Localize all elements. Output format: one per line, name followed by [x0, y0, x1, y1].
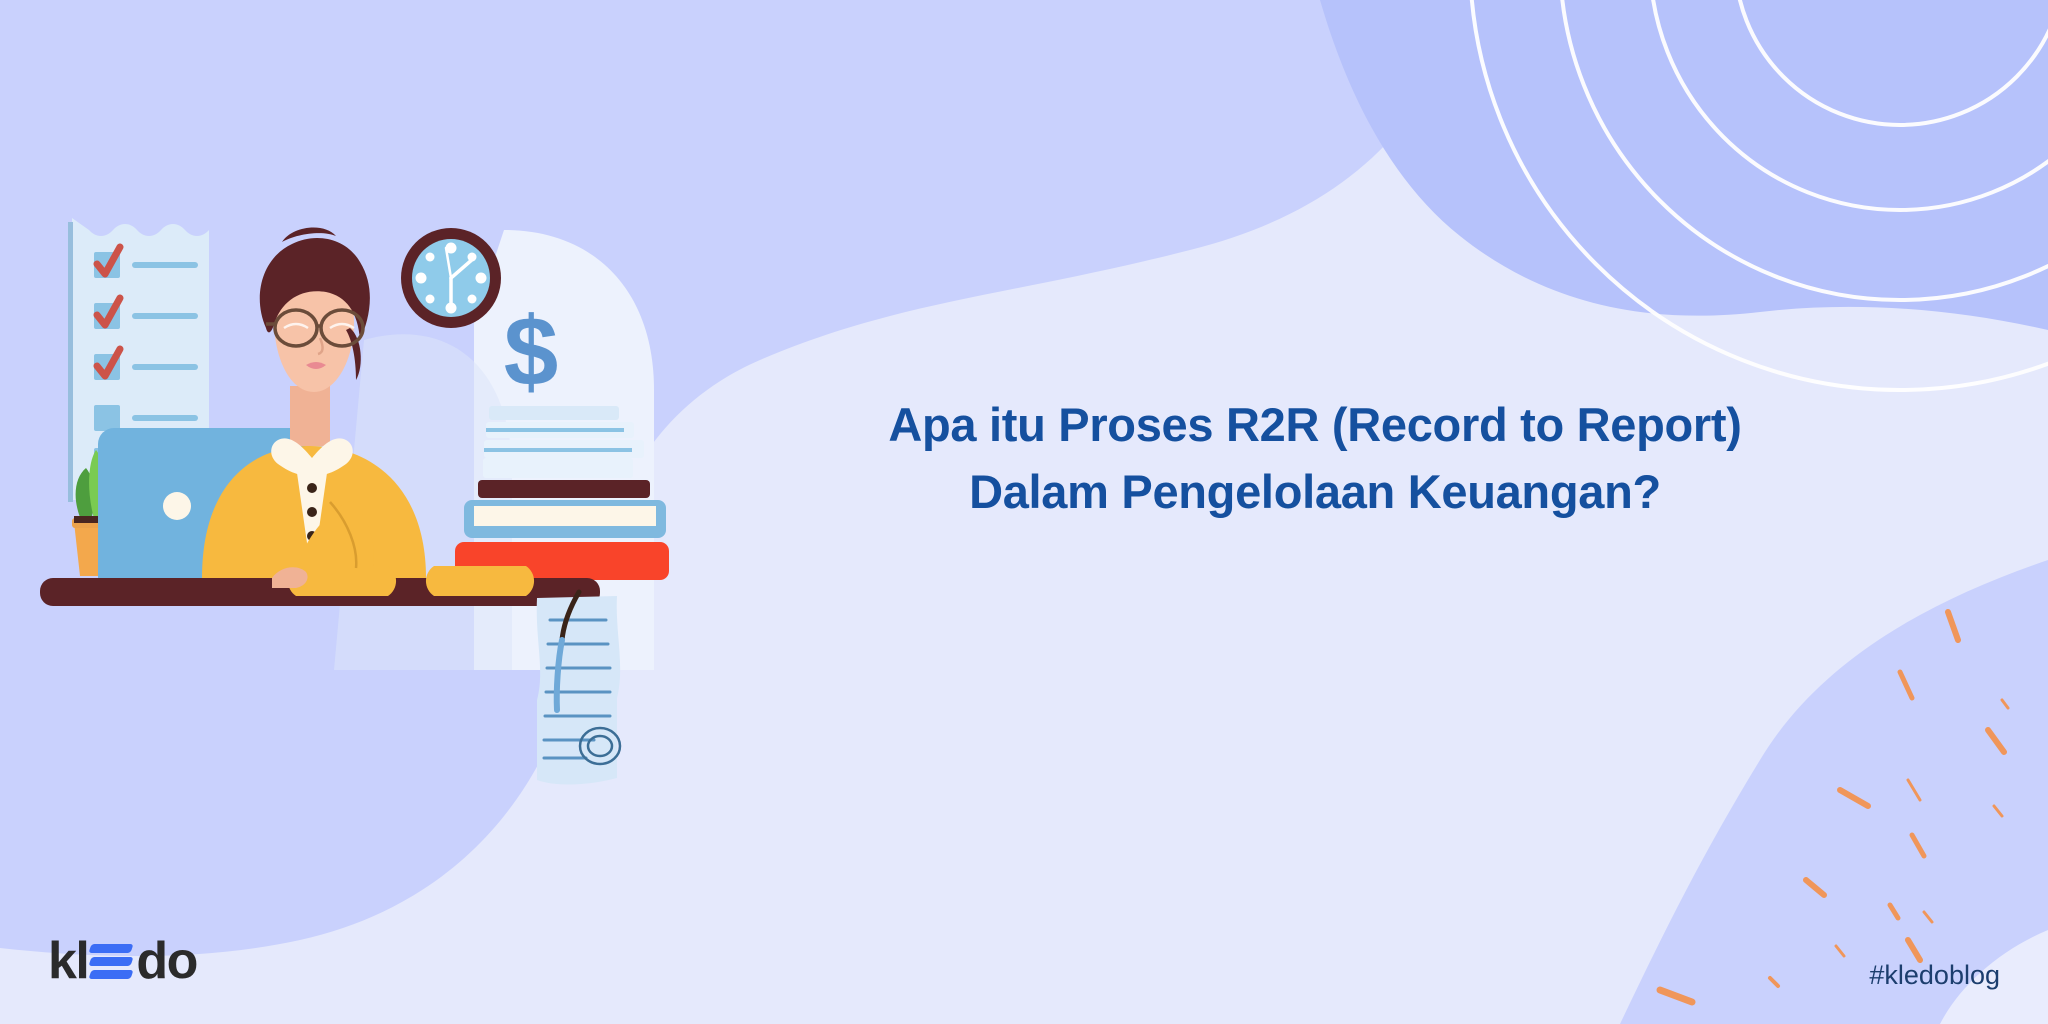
title-line-1: Apa itu Proses R2R (Record to Report) [735, 392, 1895, 459]
kledo-logo[interactable]: kl do [48, 935, 197, 987]
hashtag-label: #kledoblog [1869, 960, 2000, 991]
logo-text-suffix: do [136, 935, 197, 987]
concentric-rings-decor [1470, 0, 2048, 390]
logo-text-prefix: kl [48, 935, 88, 987]
laptop-logo [163, 492, 191, 520]
bottom-right-blob-shape [1620, 560, 2048, 1024]
document-scroll [537, 592, 620, 784]
blog-banner: $ [0, 0, 2048, 1024]
dollar-sign-icon: $ [504, 296, 559, 406]
hero-illustration: $ [34, 200, 714, 800]
page-title: Apa itu Proses R2R (Record to Report) Da… [735, 392, 1895, 525]
svg-text:$: $ [504, 296, 559, 406]
top-right-blob-shape [1320, 0, 2048, 330]
orange-dash-decor [1660, 612, 2008, 1002]
kledo-e-bars-icon [90, 940, 134, 982]
title-line-2: Dalam Pengelolaan Keuangan? [735, 459, 1895, 526]
wall-clock [401, 228, 501, 328]
